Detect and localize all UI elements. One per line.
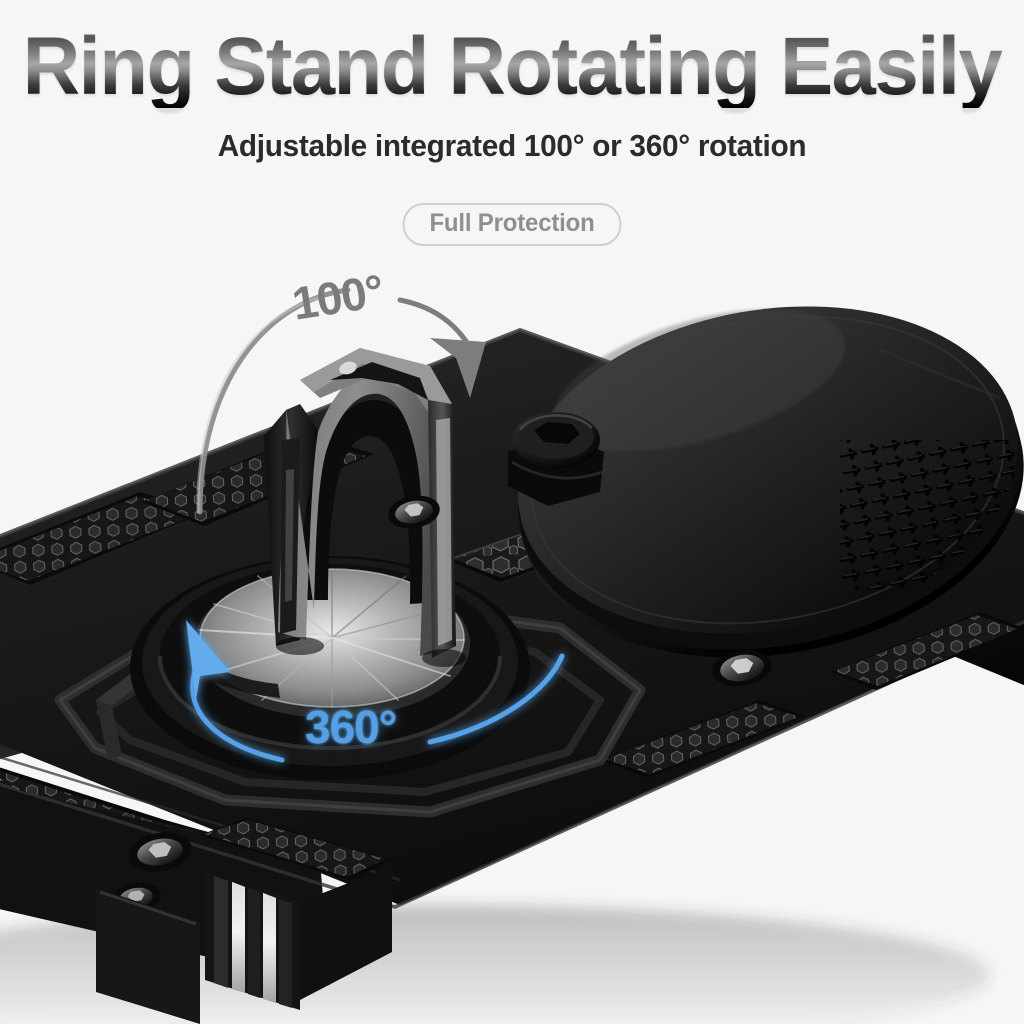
product-marketing-image: Ring Stand Rotating Easily Ring Stand Ro… bbox=[0, 0, 1024, 1024]
product-photo bbox=[0, 0, 1024, 1024]
lens-cover-knob bbox=[508, 412, 604, 506]
rotation-angle-label: 360° bbox=[305, 700, 396, 754]
